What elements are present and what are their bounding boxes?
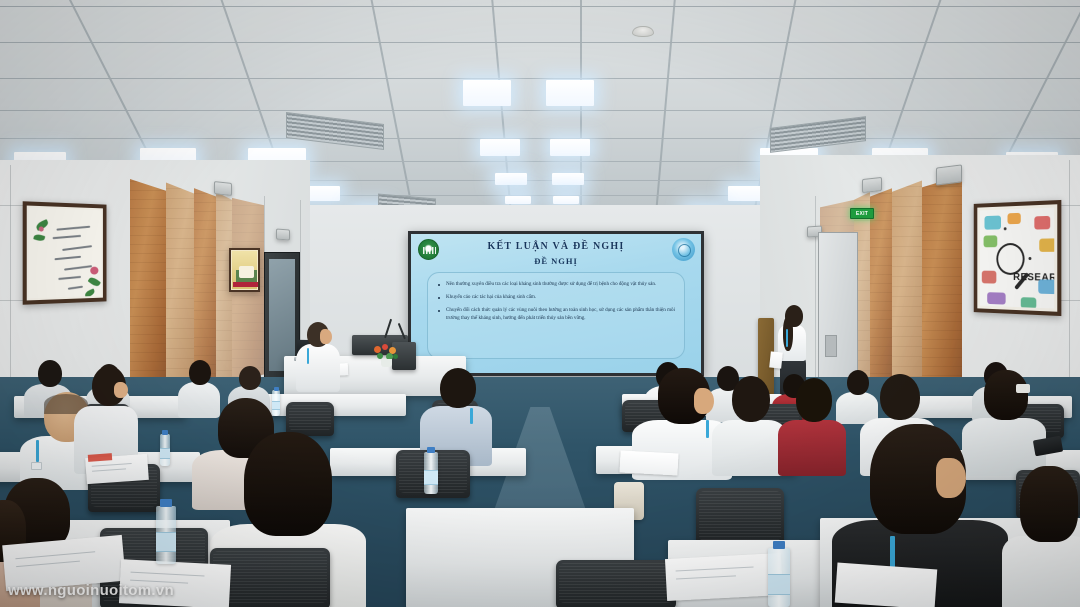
presentation-slide: KẾT LUẬN VÀ ĐỀ NGHỊ ĐỀ NGHỊ Nên thường x… [411, 234, 701, 373]
conference-room-photo: RESEARCH EXIT KẾT LUẬN VÀ ĐỀ NGHỊ Đ [0, 0, 1080, 607]
slide-body: Nên thường xuyên điều tra các loại kháng… [427, 272, 685, 359]
flower-arrangement [372, 344, 402, 366]
audience-lanyard [36, 440, 39, 462]
audience-document [619, 450, 678, 475]
audience-lanyard [890, 536, 895, 570]
presenter-face [320, 329, 332, 344]
water-bottle [272, 390, 280, 416]
ceiling-light-panel [463, 80, 511, 106]
research-poster-frame: RESEARCH [974, 200, 1062, 316]
wall-speaker [214, 181, 232, 196]
right-exit-door[interactable] [818, 232, 858, 382]
seated-presenter [296, 322, 346, 392]
presenter-lanyard [307, 348, 309, 364]
exit-sign-label: EXIT [856, 211, 868, 217]
water-bottle [156, 506, 176, 564]
calligraphy-artwork-canvas [29, 208, 101, 299]
wood-column [892, 176, 922, 402]
research-poster-canvas: RESEARCH [980, 207, 1054, 308]
wall-speaker [936, 164, 962, 185]
slide-bullet: Chuyển đổi cách thức quản lý các vùng nu… [437, 307, 675, 323]
exit-sign: EXIT [850, 208, 874, 219]
ceiling-light-panel [552, 173, 584, 185]
slide-bullet: Khuyến cáo các tác hại của kháng sinh cấ… [437, 294, 675, 302]
ceiling-light-panel [553, 196, 579, 204]
audience-document [665, 553, 783, 601]
projection-screen: KẾT LUẬN VÀ ĐỀ NGHỊ ĐỀ NGHỊ Nên thường x… [408, 231, 704, 376]
standing-attendee-hair [783, 317, 793, 351]
audience-member-head [244, 432, 332, 536]
standing-attendee-lanyard [786, 329, 788, 347]
calligraphy-artwork-frame [23, 201, 107, 305]
ceiling-light-panel [480, 139, 520, 156]
magnifier-lens-icon [996, 243, 1024, 275]
smoke-detector-icon [632, 26, 654, 37]
audience-document [835, 563, 938, 607]
audience-member [1002, 466, 1080, 607]
ceiling-light-panel [505, 196, 531, 204]
slide-subtitle: ĐỀ NGHỊ [411, 256, 701, 266]
audience-chair[interactable] [696, 488, 784, 546]
framed-wall-poster [229, 248, 260, 292]
ceiling-light-panel [495, 173, 527, 185]
audience-badge [31, 462, 42, 470]
slide-bullet: Nên thường xuyên điều tra các loại kháng… [437, 281, 675, 289]
slide-title: KẾT LUẬN VÀ ĐỀ NGHỊ [411, 241, 701, 252]
standing-attendee-paper [769, 351, 783, 368]
audience-chair[interactable] [556, 560, 676, 607]
leaf-decoration [84, 288, 95, 297]
water-bottle [768, 548, 790, 607]
leaf-decoration [88, 275, 101, 288]
ceiling-light-panel [546, 80, 594, 106]
wall-speaker [276, 229, 290, 241]
site-watermark: www.nguoinuoitom.vn [8, 582, 174, 599]
water-bottle [424, 452, 438, 494]
flower-decoration [90, 267, 98, 275]
ceiling-light-panel [550, 139, 590, 156]
flower-decoration [39, 226, 44, 231]
leaf-decoration [33, 233, 45, 242]
presenter-torso [296, 344, 340, 392]
wall-speaker [862, 177, 882, 193]
water-bottle [160, 434, 170, 466]
